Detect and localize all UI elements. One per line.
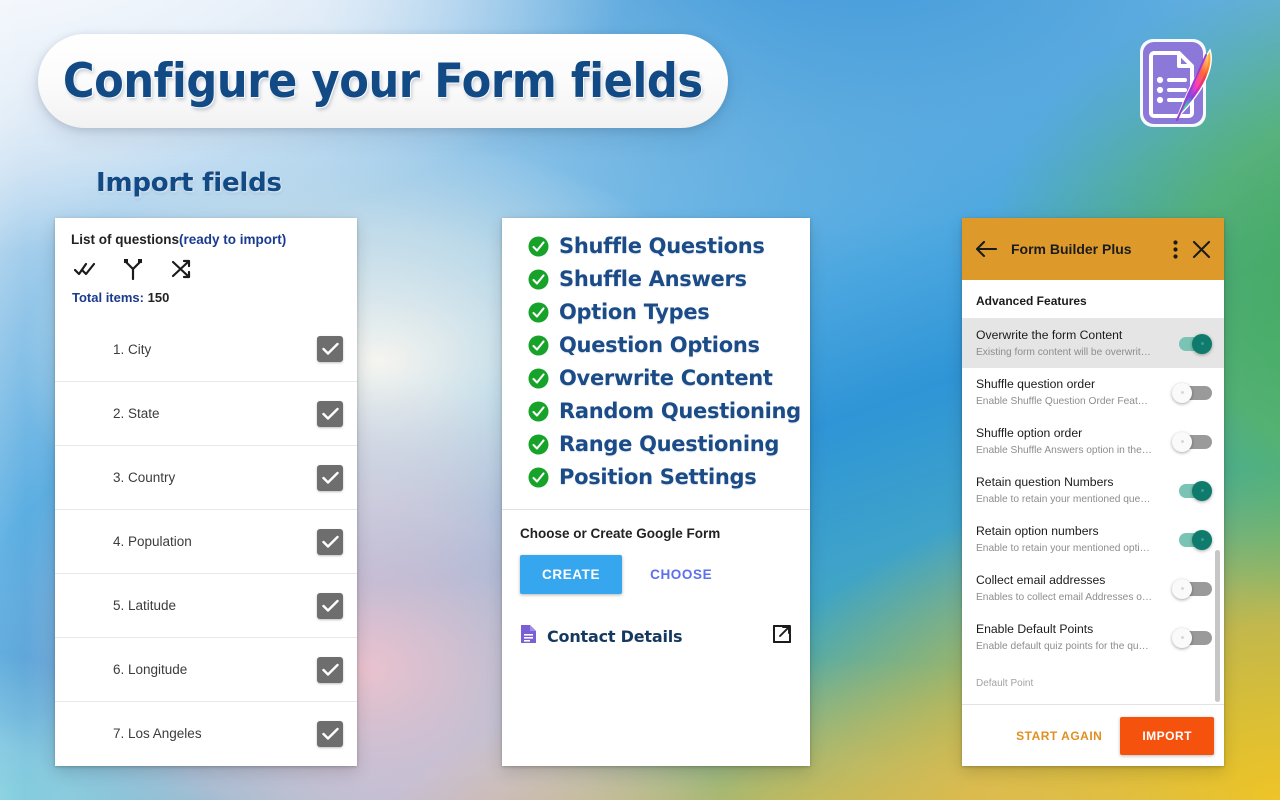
default-point-label: Default Point — [962, 662, 1224, 697]
form-builder-title: Form Builder Plus — [1011, 241, 1173, 257]
drag-handle-icon[interactable] — [73, 727, 95, 741]
contact-details-label: Contact Details — [547, 627, 772, 646]
question-checkbox[interactable] — [317, 465, 343, 491]
feature-row: Question Options — [528, 333, 810, 357]
setting-row[interactable]: Retain option numbersEnable to retain yo… — [962, 515, 1224, 564]
check-circle-icon — [528, 302, 549, 323]
setting-title: Shuffle question order — [976, 377, 1164, 392]
feature-row: Range Questioning — [528, 432, 810, 456]
feature-row: Overwrite Content — [528, 366, 810, 390]
total-items-value: 150 — [148, 290, 170, 305]
question-checkbox[interactable] — [317, 721, 343, 747]
setting-toggle[interactable] — [1172, 579, 1212, 599]
merge-branch-icon[interactable] — [122, 258, 144, 280]
setting-description: Enable to retain your mentioned que… — [976, 493, 1164, 506]
features-list: Shuffle QuestionsShuffle AnswersOption T… — [502, 218, 810, 499]
form-actions-section: Choose or Create Google Form CREATE CHOO… — [502, 510, 810, 649]
feature-row: Random Questioning — [528, 399, 810, 423]
external-link-icon[interactable] — [772, 624, 792, 649]
question-row[interactable]: 6. Longitude — [55, 637, 357, 701]
page-title: Configure your Form fields — [63, 54, 703, 109]
setting-toggle[interactable] — [1172, 481, 1212, 501]
questions-list-panel: List of questions(ready to import) — [55, 218, 357, 766]
question-checkbox[interactable] — [317, 657, 343, 683]
setting-text: Retain option numbersEnable to retain yo… — [976, 524, 1172, 555]
panel-scrollbar[interactable] — [1215, 550, 1220, 702]
google-docs-icon — [520, 624, 537, 649]
feature-row: Option Types — [528, 300, 810, 324]
setting-description: Enable default quiz points for the qu… — [976, 640, 1164, 653]
check-circle-icon — [528, 335, 549, 356]
question-row[interactable]: 5. Latitude — [55, 573, 357, 637]
advanced-settings-list: Overwrite the form ContentExisting form … — [962, 319, 1224, 662]
questions-list-toolbar — [71, 248, 341, 286]
page-section-heading: Import fields — [96, 168, 282, 198]
setting-toggle[interactable] — [1172, 628, 1212, 648]
setting-text: Overwrite the form ContentExisting form … — [976, 328, 1172, 359]
check-circle-icon — [528, 236, 549, 257]
question-checkbox[interactable] — [317, 529, 343, 555]
form-builder-header: Form Builder Plus — [962, 218, 1224, 280]
feature-row: Shuffle Questions — [528, 234, 810, 258]
setting-row[interactable]: Retain question NumbersEnable to retain … — [962, 466, 1224, 515]
setting-row[interactable]: Collect email addressesEnables to collec… — [962, 564, 1224, 613]
question-label: 6. Longitude — [113, 662, 317, 677]
feature-label: Question Options — [559, 333, 760, 357]
check-circle-icon — [528, 269, 549, 290]
setting-description: Enables to collect email Addresses o… — [976, 591, 1164, 604]
drag-handle-icon[interactable] — [73, 535, 95, 549]
setting-description: Existing form content will be overwrit… — [976, 346, 1164, 359]
questions-list: 1. City2. State3. Country4. Population5.… — [55, 317, 357, 765]
more-vert-icon[interactable] — [1173, 240, 1178, 259]
form-builder-footer: START AGAIN IMPORT — [962, 704, 1224, 766]
drag-handle-icon[interactable] — [73, 663, 95, 677]
setting-title: Overwrite the form Content — [976, 328, 1164, 343]
question-row[interactable]: 7. Los Angeles — [55, 701, 357, 765]
drag-handle-icon[interactable] — [73, 407, 95, 421]
total-items-counter: Total items: 150 — [71, 286, 341, 305]
setting-title: Shuffle option order — [976, 426, 1164, 441]
total-items-label: Total items: — [72, 290, 144, 305]
start-again-button[interactable]: START AGAIN — [1008, 719, 1110, 753]
check-circle-icon — [528, 467, 549, 488]
form-builder-panel: Form Builder Plus Advanced Features Over… — [962, 218, 1224, 766]
contact-details-row[interactable]: Contact Details — [520, 624, 792, 649]
advanced-features-heading: Advanced Features — [962, 280, 1224, 319]
question-label: 5. Latitude — [113, 598, 317, 613]
drag-handle-icon[interactable] — [73, 471, 95, 485]
feature-label: Range Questioning — [559, 432, 779, 456]
question-label: 2. State — [113, 406, 317, 421]
choose-button[interactable]: CHOOSE — [644, 555, 718, 594]
setting-title: Collect email addresses — [976, 573, 1164, 588]
question-row[interactable]: 1. City — [55, 317, 357, 381]
questions-list-title: List of questions(ready to import) — [71, 232, 341, 248]
page-title-banner: Configure your Form fields — [38, 34, 728, 128]
question-label: 4. Population — [113, 534, 317, 549]
questions-list-title-sub: (ready to import) — [179, 232, 286, 247]
setting-text: Retain question NumbersEnable to retain … — [976, 475, 1172, 506]
features-panel: Shuffle QuestionsShuffle AnswersOption T… — [502, 218, 810, 766]
question-checkbox[interactable] — [317, 593, 343, 619]
setting-toggle[interactable] — [1172, 530, 1212, 550]
feature-label: Shuffle Questions — [559, 234, 765, 258]
setting-description: Enable Shuffle Answers option in the… — [976, 444, 1164, 457]
drag-handle-icon[interactable] — [73, 342, 95, 356]
setting-toggle[interactable] — [1172, 383, 1212, 403]
check-circle-icon — [528, 434, 549, 455]
setting-title: Retain question Numbers — [976, 475, 1164, 490]
question-label: 1. City — [113, 342, 317, 357]
setting-description: Enable Shuffle Question Order Feat… — [976, 395, 1164, 408]
feature-label: Random Questioning — [559, 399, 801, 423]
setting-title: Retain option numbers — [976, 524, 1164, 539]
setting-title: Enable Default Points — [976, 622, 1164, 637]
setting-row[interactable]: Enable Default PointsEnable default quiz… — [962, 613, 1224, 662]
question-label: 7. Los Angeles — [113, 726, 317, 741]
feature-label: Overwrite Content — [559, 366, 773, 390]
setting-row[interactable]: Shuffle question orderEnable Shuffle Que… — [962, 368, 1224, 417]
feature-row: Position Settings — [528, 465, 810, 489]
check-circle-icon — [528, 401, 549, 422]
question-row[interactable]: 2. State — [55, 381, 357, 445]
setting-row[interactable]: Shuffle option orderEnable Shuffle Answe… — [962, 417, 1224, 466]
question-row[interactable]: 3. Country — [55, 445, 357, 509]
setting-text: Enable Default PointsEnable default quiz… — [976, 622, 1172, 653]
setting-row[interactable]: Overwrite the form ContentExisting form … — [962, 319, 1224, 368]
form-quill-icon — [1132, 28, 1218, 138]
setting-text: Shuffle option orderEnable Shuffle Answe… — [976, 426, 1172, 457]
arrow-left-icon[interactable] — [975, 240, 997, 258]
question-checkbox[interactable] — [317, 336, 343, 362]
import-button[interactable]: IMPORT — [1120, 717, 1214, 755]
form-action-buttons: CREATE CHOOSE — [520, 555, 792, 594]
shuffle-icon[interactable] — [170, 258, 192, 280]
setting-toggle[interactable] — [1172, 432, 1212, 452]
close-icon[interactable] — [1192, 240, 1211, 259]
question-label: 3. Country — [113, 470, 317, 485]
setting-toggle[interactable] — [1172, 334, 1212, 354]
feature-label: Option Types — [559, 300, 710, 324]
select-all-icon[interactable] — [74, 258, 96, 280]
check-circle-icon — [528, 368, 549, 389]
feature-row: Shuffle Answers — [528, 267, 810, 291]
feature-label: Position Settings — [559, 465, 756, 489]
questions-list-header: List of questions(ready to import) — [55, 218, 357, 305]
form-builder-body: Advanced Features Overwrite the form Con… — [962, 280, 1224, 704]
create-button[interactable]: CREATE — [520, 555, 622, 594]
feature-label: Shuffle Answers — [559, 267, 747, 291]
choose-create-label: Choose or Create Google Form — [520, 526, 792, 541]
setting-text: Collect email addressesEnables to collec… — [976, 573, 1172, 604]
drag-handle-icon[interactable] — [73, 599, 95, 613]
setting-description: Enable to retain your mentioned opti… — [976, 542, 1164, 555]
question-checkbox[interactable] — [317, 401, 343, 427]
question-row[interactable]: 4. Population — [55, 509, 357, 573]
questions-list-title-main: List of questions — [71, 232, 179, 247]
setting-text: Shuffle question orderEnable Shuffle Que… — [976, 377, 1172, 408]
